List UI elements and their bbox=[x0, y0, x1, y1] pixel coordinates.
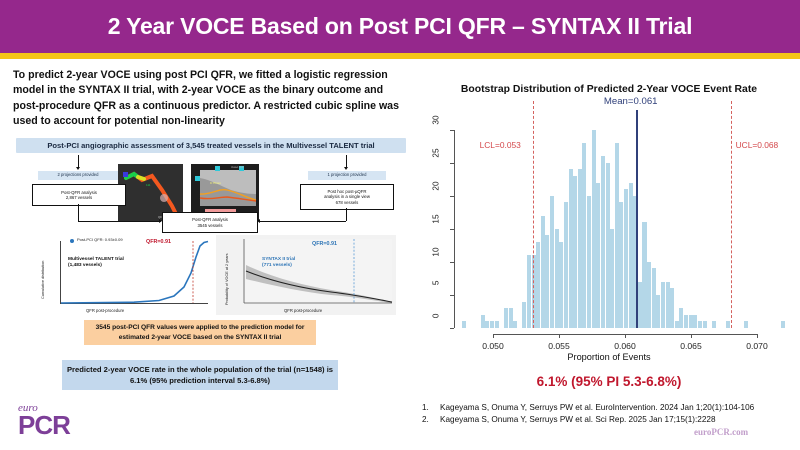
histogram-bar bbox=[550, 196, 554, 328]
x-axis-title: Proportion of Events bbox=[418, 352, 800, 362]
small-chart-left-ylabel: Cumulative distribution bbox=[41, 261, 45, 299]
histogram-bar bbox=[624, 189, 628, 328]
x-axis-tick bbox=[559, 334, 560, 338]
flow-connector-right-across bbox=[259, 221, 346, 222]
watermark: euroPCR.com bbox=[694, 427, 748, 437]
histogram-bar bbox=[509, 308, 513, 328]
y-axis-tick bbox=[450, 229, 454, 230]
flow-banner: Post-PCI angiographic assessment of 3,54… bbox=[16, 138, 406, 153]
histogram-bar bbox=[587, 196, 591, 328]
y-axis-label: 10 bbox=[432, 247, 441, 267]
flow-box-right-line3: 678 vessels bbox=[336, 200, 359, 205]
small-chart-left-trial-2: (1,483 vessels) bbox=[68, 263, 102, 268]
svg-text:0.75mm: 0.75mm bbox=[210, 181, 221, 185]
histogram-bar bbox=[569, 169, 573, 328]
histogram-bar bbox=[679, 308, 683, 328]
small-chart-left-xlabel: QFR post-procedure bbox=[86, 308, 124, 313]
x-axis-tick bbox=[493, 334, 494, 338]
small-chart-left-legend-marker bbox=[70, 239, 74, 243]
header-accent-strip bbox=[0, 53, 800, 59]
histogram-bar bbox=[481, 315, 485, 328]
reference-number: 2. bbox=[422, 414, 440, 425]
x-axis-label: 0.055 bbox=[539, 341, 579, 351]
x-axis-label: 0.070 bbox=[737, 341, 777, 351]
histogram-bar bbox=[642, 222, 646, 328]
histogram-bar bbox=[485, 321, 489, 328]
callout-blue: Predicted 2-year VOCE rate in the whole … bbox=[62, 360, 338, 390]
y-axis-tick bbox=[450, 196, 454, 197]
small-chart-left-trial-1: Multivessel TALENT trial bbox=[68, 257, 124, 262]
histogram-bar bbox=[703, 321, 707, 328]
flow-tag-left: 2 projections provided bbox=[38, 171, 118, 180]
flow-box-right: Post hoc post-µQFR analysis in a single … bbox=[300, 184, 394, 210]
y-axis-label: 25 bbox=[432, 148, 441, 168]
intro-paragraph: To predict 2-year VOCE using post PCI QF… bbox=[13, 68, 411, 129]
small-chart-right-annotation: QFR=0.91 bbox=[312, 241, 337, 247]
flow-box-left-line2: 2,867 vessels bbox=[66, 195, 92, 200]
flow-box-left: Post-QFR analysis 2,867 vessels bbox=[32, 184, 126, 206]
histogram-bar bbox=[555, 229, 559, 328]
limit-vline bbox=[731, 101, 732, 328]
histogram-bar bbox=[545, 235, 549, 328]
y-axis-label: 20 bbox=[432, 181, 441, 201]
y-axis-tick bbox=[450, 295, 454, 296]
histogram-bar bbox=[490, 321, 494, 328]
histogram-bar bbox=[726, 321, 730, 328]
histogram-bar bbox=[559, 242, 563, 328]
histogram-bar bbox=[670, 288, 674, 328]
histogram-bar bbox=[610, 229, 614, 328]
histogram-bar bbox=[606, 163, 610, 328]
reference-text: Kageyama S, Onuma Y, Serruys PW et al. E… bbox=[440, 402, 798, 413]
svg-text:Vessel QFR: Vessel QFR bbox=[231, 166, 244, 169]
y-axis-tick bbox=[450, 262, 454, 263]
flow-connector-left-across bbox=[78, 221, 161, 222]
histogram-bar bbox=[693, 315, 697, 328]
mean-vline bbox=[636, 110, 638, 328]
histogram-bar bbox=[666, 282, 670, 328]
plot-area bbox=[460, 123, 790, 328]
mean-annotation-label: Mean=0.061 bbox=[604, 96, 658, 107]
references-list: 1. Kageyama S, Onuma Y, Serruys PW et al… bbox=[422, 402, 798, 426]
histogram-bars bbox=[460, 123, 790, 328]
histogram-bar bbox=[495, 321, 499, 328]
small-chart-left-annotation: QFR=0.91 bbox=[146, 239, 171, 245]
europcr-logo: euro PCR bbox=[18, 402, 108, 446]
flow-tag-right: 1 projection provided bbox=[308, 171, 386, 180]
x-axis-tick bbox=[625, 334, 626, 338]
histogram-bar bbox=[573, 176, 577, 328]
flow-box-center: Post-QFR analysis 3545 vessels bbox=[162, 212, 258, 233]
histogram-bar bbox=[712, 321, 716, 328]
histogram-bar bbox=[462, 321, 466, 328]
histogram-bar bbox=[582, 143, 586, 328]
histogram-bar bbox=[629, 183, 633, 328]
histogram-bar bbox=[661, 282, 665, 328]
small-chart-right-ylabel: Probability of VOCE at 2 years bbox=[225, 254, 229, 306]
histogram-bar bbox=[527, 255, 531, 328]
histogram-bar bbox=[698, 321, 702, 328]
callout-orange: 3545 post-PCI QFR values were applied to… bbox=[84, 320, 316, 345]
logo-pcr-text: PCR bbox=[18, 414, 108, 436]
svg-text:111: 111 bbox=[146, 183, 151, 187]
flow-diagram: 2 projections provided 1 projection prov… bbox=[16, 155, 408, 345]
y-axis bbox=[454, 130, 455, 328]
histogram-bar bbox=[513, 321, 517, 328]
flow-arrow-right-head bbox=[344, 167, 348, 170]
y-axis-tick bbox=[450, 163, 454, 164]
histogram-bar bbox=[541, 216, 545, 328]
x-axis-tick bbox=[757, 334, 758, 338]
y-axis-label: 15 bbox=[432, 214, 441, 234]
flow-arrow-left-head bbox=[76, 167, 80, 170]
histogram-bar bbox=[652, 268, 656, 328]
histogram-bar bbox=[675, 321, 679, 328]
histogram-bar bbox=[638, 282, 642, 328]
histogram-bar bbox=[744, 321, 748, 328]
y-axis-tick bbox=[450, 130, 454, 131]
histogram-bar bbox=[564, 202, 568, 328]
x-axis-label: 0.065 bbox=[671, 341, 711, 351]
histogram-bar bbox=[536, 242, 540, 328]
chart-title: Bootstrap Distribution of Predicted 2-Ye… bbox=[418, 84, 800, 95]
flow-box-center-line2: 3545 vessels bbox=[197, 223, 222, 228]
y-axis-label: 0 bbox=[432, 314, 441, 334]
histogram-bar bbox=[684, 315, 688, 328]
histogram-bar bbox=[647, 262, 651, 328]
bootstrap-histogram: Bootstrap Distribution of Predicted 2-Ye… bbox=[418, 84, 800, 374]
result-summary: 6.1% (95% PI 5.3-6.8%) bbox=[418, 374, 800, 389]
small-chart-right-trial-1: SYNTAX II trial bbox=[262, 257, 295, 262]
histogram-bar bbox=[522, 302, 526, 328]
reference-number: 1. bbox=[422, 402, 440, 413]
reference-item: 2. Kageyama S, Onuma Y, Serruys PW et al… bbox=[422, 414, 798, 425]
small-chart-probability: QFR=0.91 SYNTAX II trial (771 vessels) P… bbox=[216, 235, 396, 315]
x-axis-tick bbox=[691, 334, 692, 338]
histogram-bar bbox=[578, 169, 582, 328]
reference-item: 1. Kageyama S, Onuma Y, Serruys PW et al… bbox=[422, 402, 798, 413]
histogram-bar bbox=[615, 143, 619, 328]
y-axis-label: 5 bbox=[432, 280, 441, 300]
histogram-bar bbox=[781, 321, 785, 328]
histogram-bar bbox=[592, 130, 596, 328]
y-axis-tick bbox=[450, 328, 454, 329]
y-axis-label: 30 bbox=[432, 115, 441, 135]
flow-connector-right-down bbox=[346, 208, 347, 221]
limit-vline bbox=[533, 101, 534, 328]
histogram-bar bbox=[656, 295, 660, 328]
histogram-bar bbox=[601, 156, 605, 328]
histogram-bar bbox=[619, 202, 623, 328]
histogram-bar bbox=[689, 315, 693, 328]
histogram-bar bbox=[596, 183, 600, 328]
page-title: 2 Year VOCE Based on Post PCI QFR – SYNT… bbox=[0, 0, 800, 53]
x-axis-label: 0.050 bbox=[473, 341, 513, 351]
flow-connector-left-down bbox=[78, 204, 79, 221]
reference-text: Kageyama S, Onuma Y, Serruys PW et al. S… bbox=[440, 414, 798, 425]
histogram-bar bbox=[504, 308, 508, 328]
small-chart-cumulative: QFR=0.91 Post-PCI QFR: 0.93±0.09 Multive… bbox=[34, 235, 210, 315]
small-chart-right-xlabel: QFR post-procedure bbox=[284, 308, 322, 313]
x-axis-label: 0.060 bbox=[605, 341, 645, 351]
small-chart-left-legend: Post-PCI QFR: 0.93±0.09 bbox=[77, 237, 123, 242]
small-chart-right-trial-2: (771 vessels) bbox=[262, 263, 292, 268]
